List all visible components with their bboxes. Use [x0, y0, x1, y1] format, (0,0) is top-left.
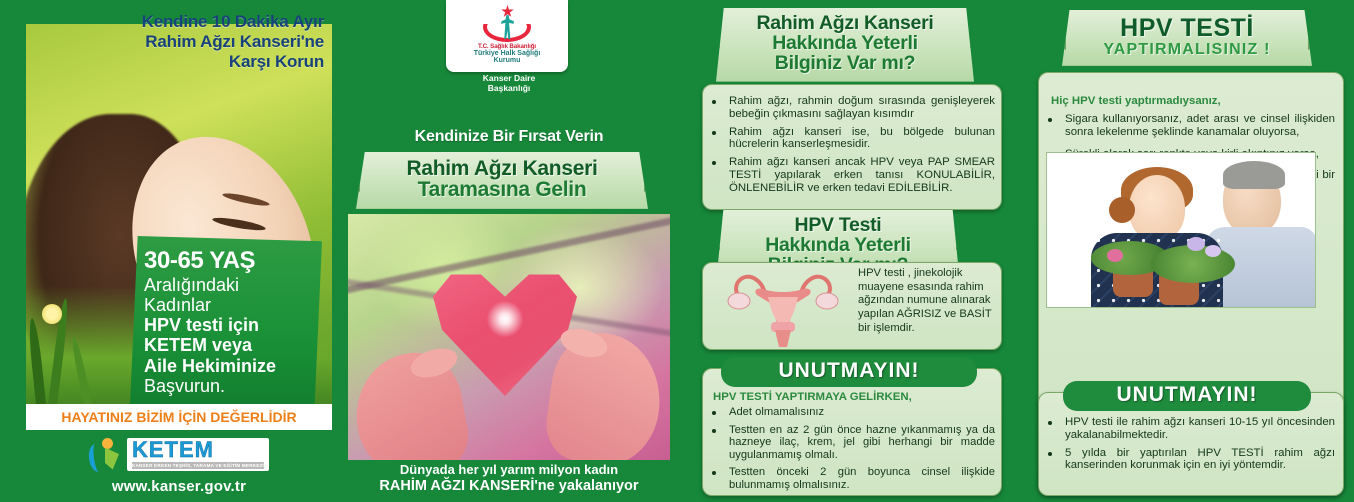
remember-text: Testten en az 2 gün önce hazne yıkanmamı…: [729, 424, 995, 461]
ketem-wordmark: KETEM: [132, 439, 264, 461]
photo-flower: [42, 304, 62, 324]
ministry-line-2: Türkiye Halk Sağlığı Kurumu: [474, 50, 541, 65]
column-call-to-action: HPV TESTİ YAPTIRMALISINIZ ! Hiç HPV test…: [1028, 0, 1354, 502]
list-item: Adet olmamalısınız: [703, 406, 995, 419]
banner-fold-right-icon: [956, 210, 982, 250]
photo-bloom: [1187, 237, 1205, 251]
photo-woman-head: [1129, 175, 1185, 241]
cervical-cancer-banner: Rahim Ağzı Kanseri Hakkında Yeterli Bilg…: [716, 8, 974, 82]
uterus-icon: [713, 267, 853, 349]
fact-text: Rahim ağzı, rahmin doğum sırasında geniş…: [729, 95, 995, 120]
age-range-value: 30-65 YAŞ: [144, 248, 312, 275]
hpv-test-cta-banner-text: HPV TESTİ YAPTIRMALISINIZ !: [1076, 16, 1298, 58]
banner-fold-right-icon: [644, 152, 670, 192]
screening-banner-line-2: Taramasına Gelin: [370, 179, 634, 200]
age-range-line4: HPV testi için: [144, 315, 259, 335]
ministry-line-1: T.C. Sağlık Bakanlığı: [478, 43, 536, 50]
facts-list: Rahim ağzı, rahmin doğum sırasında geniş…: [703, 95, 995, 194]
remember-text: 5 yılda bir yaptırılan HPV TESTİ rahim a…: [1065, 447, 1335, 472]
fact-text: Rahim ağzı kanseri ise, bu bölgede bulun…: [729, 126, 995, 151]
age-range-line7: Başvurun.: [144, 376, 225, 396]
fact-text: Rahim ağzı kanseri ancak HPV veya PAP SM…: [729, 156, 995, 194]
photo-woman-bun: [1109, 197, 1135, 223]
banner2-line-1: HPV Testi: [730, 216, 946, 236]
age-range-callout: 30-65 YAŞ Aralığındaki Kadınlar HPV test…: [130, 236, 322, 412]
remember-list-col4: HPV testi ile rahim ağzı kanseri 10-15 y…: [1039, 416, 1335, 472]
column-invitation: T.C. Sağlık Bakanlığı Türkiye Halk Sağlı…: [346, 0, 672, 502]
sparkle-icon: [484, 298, 526, 340]
heart-photo: [348, 214, 670, 460]
headline-line-3: Karşı Korun: [56, 52, 324, 72]
age-range-line6: Aile Hekiminize: [144, 356, 276, 376]
remember-card-col3: UNUTMAYIN! HPV TESTİ YAPTIRMAYA GELİRKEN…: [702, 368, 1002, 496]
ministry-line-2-text: Türkiye Halk Sağlığı: [474, 50, 541, 57]
statistic-line-1: Dünyada her yıl yarım milyon kadın: [346, 462, 672, 478]
banner2-line-2: Hakkında Yeterli: [730, 236, 946, 256]
banner-fold-left-icon: [694, 8, 720, 48]
ketem-figure-icon: [89, 438, 123, 472]
remember-intro-col3: HPV TESTİ YAPTIRMAYA GELİRKEN,: [703, 391, 995, 403]
ketem-wordmark-box: KETEM KANSER ERKEN TEŞHİS, TARAMA VE EĞİ…: [127, 438, 269, 471]
statistic-line-2: RAHİM AĞZI KANSERİ'ne yakalanıyor: [346, 478, 672, 495]
banner1-line-1: Rahim Ağzı Kanseri: [730, 14, 960, 34]
list-item: Testten önceki 2 gün boyunca cinsel iliş…: [703, 466, 995, 491]
remember-text: Adet olmamalısınız: [729, 406, 824, 418]
headline-line-2: Rahim Ağzı Kanseri'ne: [56, 32, 324, 52]
photo-branch: [348, 214, 670, 296]
remember-text: HPV testi ile rahim ağzı kanseri 10-15 y…: [1065, 416, 1335, 441]
banner-fold-right-icon: [970, 8, 996, 48]
cta-banner-line-1: HPV TESTİ: [1076, 16, 1298, 42]
screening-banner-line-1: Rahim Ağzı Kanseri: [370, 158, 634, 179]
website-url[interactable]: www.kanser.gov.tr: [112, 478, 246, 495]
ketem-logo: KETEM KANSER ERKEN TEŞHİS, TARAMA VE EĞİ…: [89, 438, 269, 472]
ministry-department: Kanser Daire Başkanlığı: [346, 74, 672, 94]
age-range-line2: Aralığındaki: [144, 275, 239, 295]
hpv-test-description: HPV testi , jinekolojik muayene esasında…: [858, 267, 998, 335]
screening-banner: Rahim Ağzı Kanseri Taramasına Gelin: [356, 152, 648, 209]
statistic-caption: Dünyada her yıl yarım milyon kadın RAHİM…: [346, 462, 672, 495]
list-item: Rahim ağzı kanseri ancak HPV veya PAP SM…: [703, 156, 995, 194]
elderly-couple-photo: [1046, 152, 1316, 308]
list-item: Sigara kullanıyorsanız, adet arası ve ci…: [1039, 113, 1335, 139]
banner1-line-3: Bilginiz Var mı?: [730, 54, 960, 74]
column1-headline: Kendine 10 Dakika Ayır Rahim Ağzı Kanser…: [56, 12, 324, 72]
list-item: Testten en az 2 gün önce hazne yıkanmamı…: [703, 424, 995, 462]
list-item: Rahim ağzı, rahmin doğum sırasında geniş…: [703, 95, 995, 121]
remember-title-col4: UNUTMAYIN!: [1063, 381, 1311, 411]
photo-bloom: [1205, 245, 1221, 257]
list-item: 5 yılda bir yaptırılan HPV TESTİ rahim a…: [1039, 447, 1335, 473]
risk-factors-intro: Hiç HPV testi yaptırmadıysanız,: [1039, 95, 1335, 107]
hpv-test-cta-banner: HPV TESTİ YAPTIRMALISINIZ !: [1062, 10, 1312, 66]
cervical-cancer-facts-card: Rahim ağzı, rahmin doğum sırasında geniş…: [702, 84, 1002, 210]
cta-banner-line-2: YAPTIRMALISINIZ !: [1076, 42, 1298, 58]
slogan-strip: HAYATINIZ BİZİM İÇİN DEĞERLİDİR: [26, 404, 332, 430]
photo-man-hair: [1223, 161, 1285, 189]
hpv-test-description-card: HPV testi , jinekolojik muayene esasında…: [702, 262, 1002, 350]
list-item: Rahim ağzı kanseri ise, bu bölgede bulun…: [703, 126, 995, 152]
ministry-logo-card: T.C. Sağlık Bakanlığı Türkiye Halk Sağlı…: [446, 0, 568, 72]
ketem-logo-block: KETEM KANSER ERKEN TEŞHİS, TARAMA VE EĞİ…: [26, 430, 332, 502]
risk-text: Sigara kullanıyorsanız, adet arası ve ci…: [1065, 113, 1335, 138]
photo-bloom: [1107, 249, 1123, 262]
screening-banner-text: Rahim Ağzı Kanseri Taramasına Gelin: [370, 158, 634, 201]
column-awareness: Kendine 10 Dakika Ayır Rahim Ağzı Kanser…: [18, 0, 338, 502]
age-range-line3: Kadınlar: [144, 295, 211, 315]
banner-fold-left-icon: [1040, 10, 1066, 50]
cervical-cancer-banner-text: Rahim Ağzı Kanseri Hakkında Yeterli Bilg…: [730, 14, 960, 74]
banner-fold-right-icon: [1308, 10, 1334, 50]
poster-root: Kendine 10 Dakika Ayır Rahim Ağzı Kanser…: [0, 0, 1354, 502]
banner1-line-2: Hakkında Yeterli: [730, 34, 960, 54]
department-line-2: Başkanlığı: [488, 83, 531, 93]
banner-fold-left-icon: [694, 210, 720, 250]
ketem-subtitle: KANSER ERKEN TEŞHİS, TARAMA VE EĞİTİM ME…: [132, 462, 264, 469]
remember-list-col3: Adet olmamalısınız Testten en az 2 gün ö…: [703, 406, 995, 491]
remember-title-col3: UNUTMAYIN!: [721, 357, 977, 387]
department-line-1: Kanser Daire: [483, 73, 535, 83]
remember-card-col4: UNUTMAYIN! HPV testi ile rahim ağzı kans…: [1038, 392, 1344, 496]
remember-text: Testten önceki 2 gün boyunca cinsel iliş…: [729, 466, 995, 491]
column-information: Rahim Ağzı Kanseri Hakkında Yeterli Bilg…: [690, 0, 1020, 502]
headline-line-1: Kendine 10 Dakika Ayır: [56, 12, 324, 32]
ministry-line-3-text: Kurumu: [494, 57, 521, 64]
column2-kicker: Kendinize Bir Fırsat Verin: [346, 128, 672, 146]
list-item: HPV testi ile rahim ağzı kanseri 10-15 y…: [1039, 416, 1335, 442]
age-range-line5: KETEM veya: [144, 335, 252, 355]
ministry-emblem-icon: [479, 4, 535, 42]
